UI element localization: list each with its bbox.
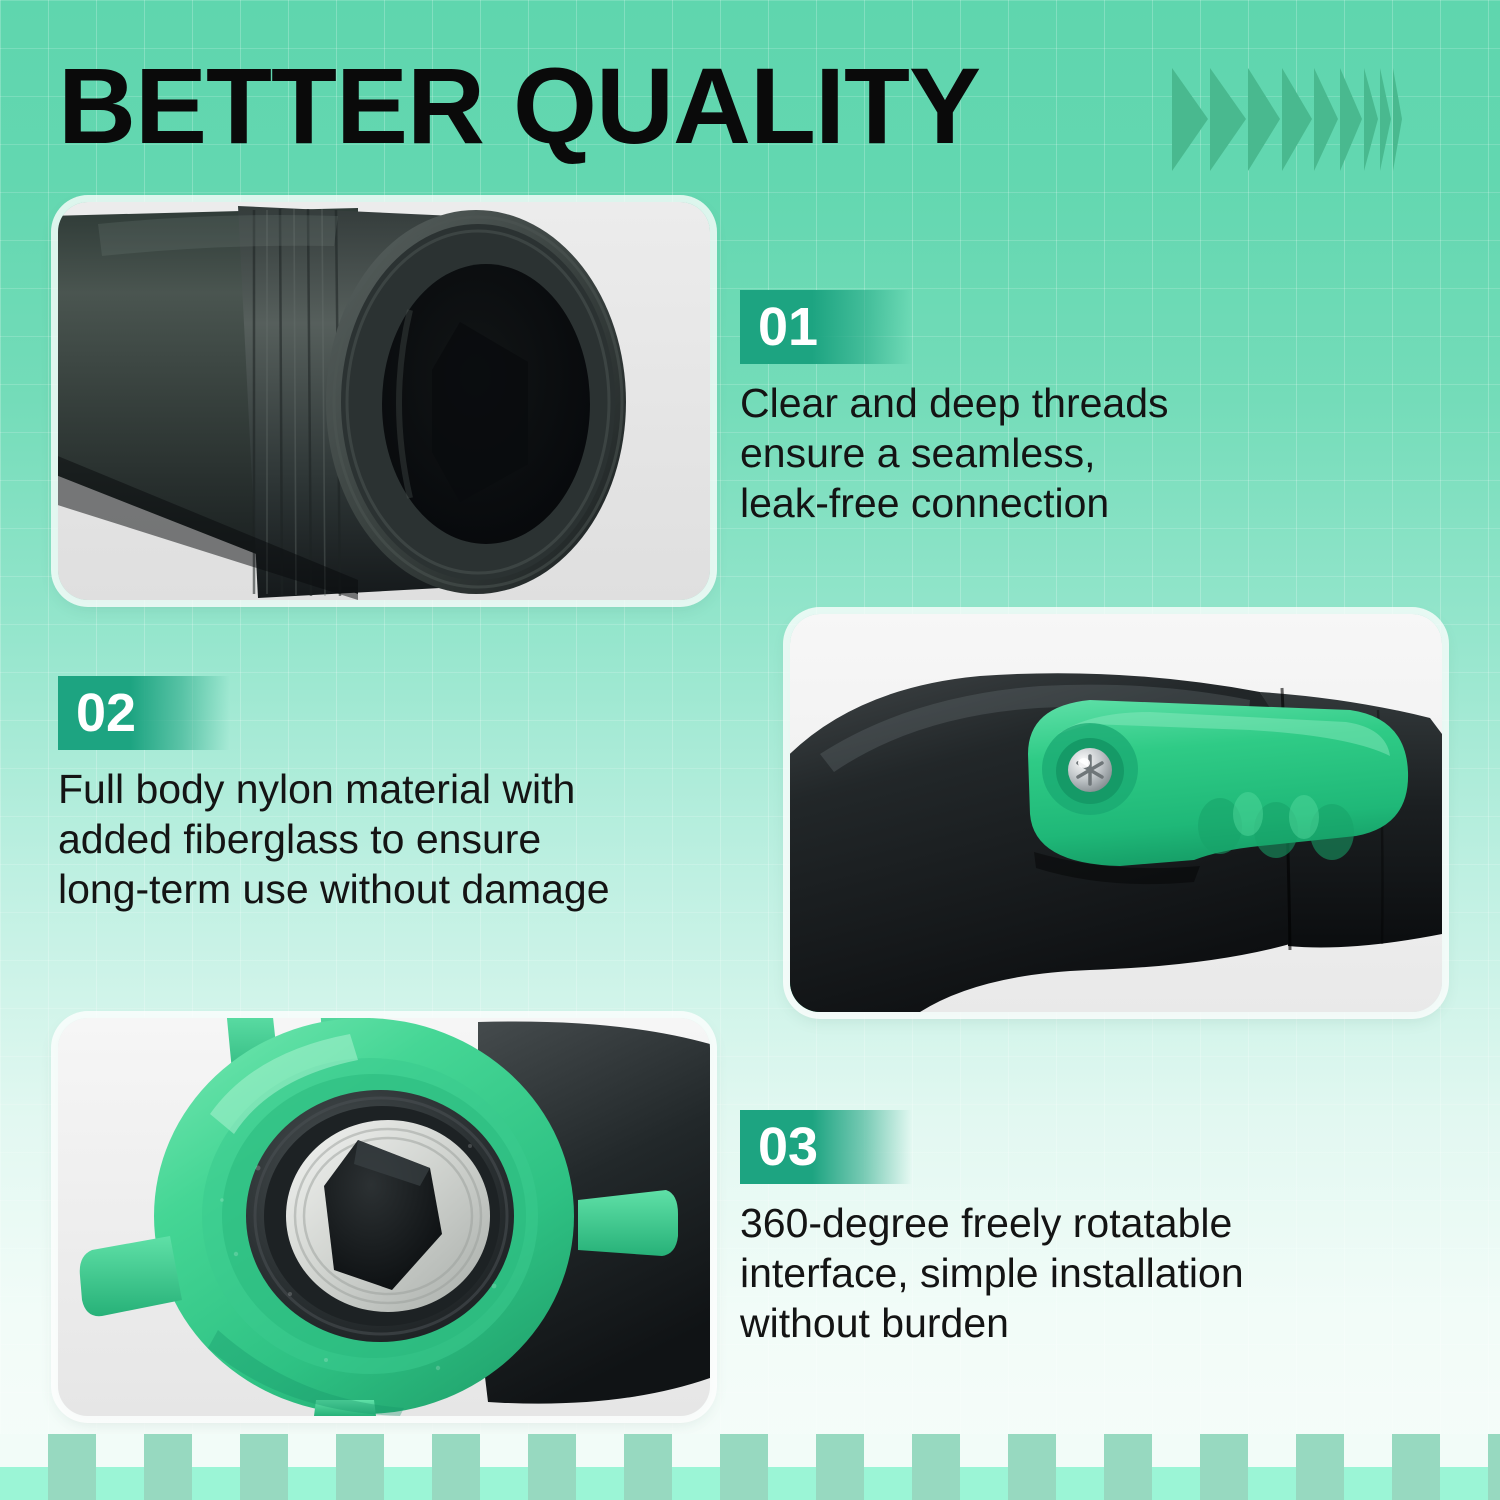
checker-square [1296, 1467, 1344, 1500]
checker-square [912, 1467, 960, 1500]
checker-square [1392, 1434, 1440, 1467]
feature-line: without burden [740, 1298, 1400, 1348]
checker-square [864, 1434, 912, 1467]
checker-square [672, 1434, 720, 1467]
feature-description-02: Full body nylon material with added fibe… [58, 764, 758, 914]
checker-square [1056, 1467, 1104, 1500]
checker-square [576, 1467, 624, 1500]
product-photo-trigger-lever [790, 614, 1442, 1012]
checker-square [1440, 1467, 1488, 1500]
checker-square [480, 1467, 528, 1500]
feature-line: Full body nylon material with [58, 764, 758, 814]
feature-number-03: 03 [758, 1120, 818, 1174]
checker-square [1200, 1467, 1248, 1500]
checker-square [960, 1467, 1008, 1500]
checker-square [528, 1467, 576, 1500]
checker-square [336, 1434, 384, 1467]
checker-square [1488, 1467, 1500, 1500]
feature-description-03: 360-degree freely rotatable interface, s… [740, 1198, 1400, 1348]
checker-square [624, 1434, 672, 1467]
feature-line: Clear and deep threads [740, 378, 1300, 428]
checker-square [1488, 1434, 1500, 1467]
checker-square [1008, 1467, 1056, 1500]
checker-square [912, 1434, 960, 1467]
checker-square [1152, 1467, 1200, 1500]
checker-square [672, 1467, 720, 1500]
checker-square [0, 1434, 48, 1467]
checker-square [1008, 1434, 1056, 1467]
checker-square [816, 1434, 864, 1467]
feature-block-02: 02 Full body nylon material with added f… [58, 676, 758, 914]
checker-square [768, 1434, 816, 1467]
feature-badge-01: 01 [740, 290, 912, 364]
feature-line: long-term use without damage [58, 864, 758, 914]
checkerboard-row-top [0, 1434, 1500, 1467]
checker-square [1392, 1467, 1440, 1500]
checker-square [720, 1467, 768, 1500]
checker-square [0, 1467, 48, 1500]
checker-square [1248, 1467, 1296, 1500]
feature-badge-03: 03 [740, 1110, 912, 1184]
checker-square [432, 1434, 480, 1467]
feature-line: 360-degree freely rotatable [740, 1198, 1400, 1248]
checker-square [96, 1434, 144, 1467]
checker-square [1344, 1434, 1392, 1467]
checker-square [1200, 1434, 1248, 1467]
rotatable-collar-illustration [58, 1018, 710, 1416]
checker-square [720, 1434, 768, 1467]
checker-square [336, 1467, 384, 1500]
checker-square [384, 1467, 432, 1500]
checker-square [576, 1434, 624, 1467]
checker-square [240, 1434, 288, 1467]
checker-square [144, 1434, 192, 1467]
feature-number-02: 02 [76, 686, 136, 740]
threaded-connector-illustration [58, 202, 710, 600]
checker-square [1296, 1434, 1344, 1467]
checker-square [1056, 1434, 1104, 1467]
page-title: BETTER QUALITY [58, 52, 980, 160]
feature-number-01: 01 [758, 300, 818, 354]
checker-square [144, 1467, 192, 1500]
checker-square [960, 1434, 1008, 1467]
product-infographic: BETTER QUALITY [0, 0, 1500, 1500]
checker-square [1104, 1434, 1152, 1467]
checker-square [480, 1434, 528, 1467]
feature-line: ensure a seamless, [740, 428, 1300, 478]
checker-square [624, 1467, 672, 1500]
checker-square [48, 1467, 96, 1500]
feature-line: leak-free connection [740, 478, 1300, 528]
feature-line: added fiberglass to ensure [58, 814, 758, 864]
checker-square [384, 1434, 432, 1467]
checker-square [1440, 1434, 1488, 1467]
feature-badge-02: 02 [58, 676, 230, 750]
checkerboard-row-bottom [0, 1467, 1500, 1500]
checker-square [528, 1434, 576, 1467]
checker-square [1152, 1434, 1200, 1467]
checker-square [1344, 1467, 1392, 1500]
checker-square [768, 1467, 816, 1500]
checker-square [1104, 1467, 1152, 1500]
checker-square [432, 1467, 480, 1500]
trigger-lever-illustration [790, 614, 1442, 1012]
checker-square [816, 1467, 864, 1500]
feature-block-01: 01 Clear and deep threads ensure a seaml… [740, 290, 1300, 528]
checker-square [864, 1467, 912, 1500]
product-photo-rotatable-collar [58, 1018, 710, 1416]
product-photo-threaded-connector [58, 202, 710, 600]
checker-square [240, 1467, 288, 1500]
checker-square [96, 1467, 144, 1500]
checker-square [48, 1434, 96, 1467]
feature-line: interface, simple installation [740, 1248, 1400, 1298]
checkerboard-footer [0, 1434, 1500, 1500]
chevron-arrows-right-icon [1172, 62, 1492, 177]
checker-square [192, 1467, 240, 1500]
checker-square [288, 1467, 336, 1500]
feature-block-03: 03 360-degree freely rotatable interface… [740, 1110, 1400, 1348]
checker-square [288, 1434, 336, 1467]
checker-square [192, 1434, 240, 1467]
checker-square [1248, 1434, 1296, 1467]
feature-description-01: Clear and deep threads ensure a seamless… [740, 378, 1300, 528]
